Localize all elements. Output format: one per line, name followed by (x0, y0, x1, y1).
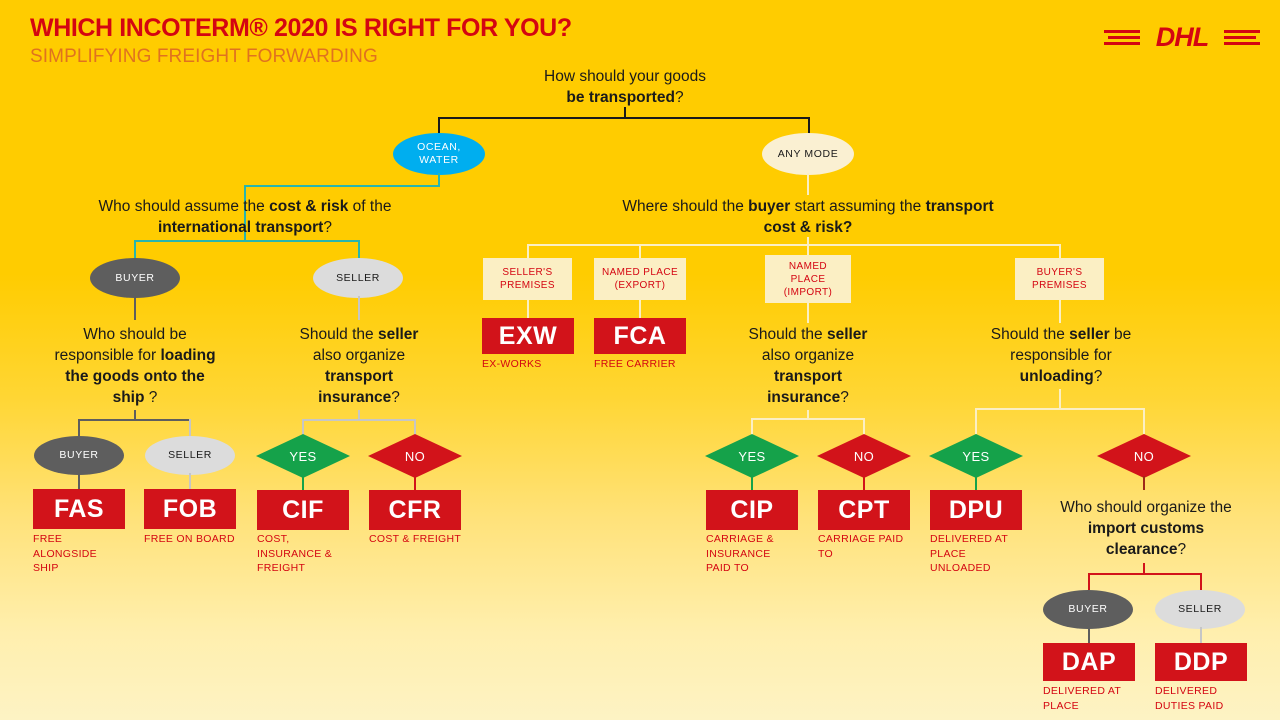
connector-exw (527, 300, 529, 318)
ocean-q-d: international transport (158, 219, 323, 236)
seller-insurance-question: Should the seller also organize transpor… (263, 324, 455, 408)
place3-l1: NAMED (789, 261, 827, 272)
place1-l1: SELLER'S (502, 267, 552, 278)
ocean-label-line1: OCEAN, (417, 141, 461, 153)
term-cip-code: CIP (730, 496, 773, 525)
customs-option-seller[interactable]: SELLER (1155, 590, 1245, 629)
connector-si-left (302, 419, 304, 436)
term-dap[interactable]: DAP (1043, 643, 1135, 681)
import-insurance-question: Should the seller also organize transpor… (712, 324, 904, 408)
connector-fob (189, 473, 191, 489)
connector-dpu (975, 476, 977, 490)
connector-unload-stem (1059, 300, 1061, 323)
connector-ddp (1200, 627, 1202, 643)
un-q5: unloading (1020, 368, 1094, 385)
term-cpt-code: CPT (838, 496, 890, 525)
place2-l1: NAMED PLACE (602, 267, 678, 278)
am-q2: buyer (748, 198, 790, 215)
connector-si-bar (302, 419, 415, 421)
connector-seller-sub-stem (358, 296, 360, 320)
un-q3: be (1110, 326, 1132, 343)
place1-label: SELLER'S PREMISES (500, 266, 555, 292)
un-q4: responsible for (1010, 347, 1112, 364)
connector-un-right (1143, 408, 1145, 434)
connector-ii-right (863, 418, 865, 435)
connector-bl-left (78, 419, 80, 436)
bl-q5: ship (113, 389, 145, 406)
import-insurance-option-yes[interactable]: YES (705, 434, 799, 478)
term-fca[interactable]: FCA (594, 318, 686, 354)
term-fas-caption: FREE ALONGSIDE SHIP (33, 532, 133, 576)
connector-imp-ins-stem (807, 303, 809, 323)
term-cif-code: CIF (282, 496, 324, 525)
term-fob-code: FOB (163, 495, 217, 524)
term-dpu-caption: DELIVERED AT PLACE UNLOADED (930, 532, 1035, 576)
ocean-option-buyer[interactable]: BUYER (90, 258, 180, 298)
root-question-emphasis: be transported (566, 89, 675, 106)
connector-root-bar (438, 117, 810, 119)
connector-am-bar (527, 244, 1060, 246)
place3-label: NAMED PLACE (IMPORT) (784, 260, 833, 299)
ocean-yes-label: YES (289, 449, 316, 464)
term-fas-code: FAS (54, 495, 104, 524)
ii-no-label: NO (854, 449, 874, 464)
si-q6: ? (391, 389, 400, 406)
ocean-seller-label: SELLER (336, 272, 380, 285)
term-dpu-code: DPU (949, 496, 1003, 525)
connector-ocean-jog (244, 185, 440, 187)
ocean-label: OCEAN, WATER (417, 141, 461, 167)
term-ddp-caption: DELIVERED DUTIES PAID (1155, 684, 1260, 713)
svg-text:DHL: DHL (1156, 22, 1209, 52)
term-fob[interactable]: FOB (144, 489, 236, 529)
loading-buyer-label: BUYER (59, 449, 98, 462)
term-cip[interactable]: CIP (706, 490, 798, 530)
place3-l3: (IMPORT) (784, 287, 833, 298)
root-question-tail: ? (675, 89, 684, 106)
connector-am-p4 (1059, 244, 1061, 258)
connector-un-stem (1059, 389, 1061, 409)
import-customs-question: Who should organize the import customs c… (1035, 497, 1257, 560)
ocean-option-seller[interactable]: SELLER (313, 258, 403, 298)
root-question-line1: How should your goods (544, 68, 706, 85)
connector-ic-right (1200, 573, 1202, 590)
un-q6: ? (1094, 368, 1103, 385)
connector-ocean-split-bar (134, 240, 359, 242)
ocean-q-c: of the (348, 198, 391, 215)
connector-dap (1088, 627, 1090, 643)
connector-ocean-split-right (358, 240, 360, 258)
ocean-no-label: NO (405, 449, 425, 464)
term-dpu[interactable]: DPU (930, 490, 1022, 530)
term-fob-caption: FREE ON BOARD (144, 532, 259, 547)
place4-l2: PREMISES (1032, 280, 1087, 291)
ii-q4: transport (774, 368, 842, 385)
ocean-q-b: cost & risk (269, 198, 348, 215)
ii-q2: seller (827, 326, 868, 343)
connector-ii-bar (751, 418, 864, 420)
bl-q6: ? (144, 389, 157, 406)
ocean-buyer-label: BUYER (115, 272, 154, 285)
place-sellers-premises[interactable]: SELLER'S PREMISES (483, 258, 572, 300)
connector-cpt (863, 476, 865, 490)
unloading-option-yes[interactable]: YES (929, 434, 1023, 478)
connector-si-right (414, 419, 416, 436)
place2-label: NAMED PLACE (EXPORT) (602, 266, 678, 292)
ii-q1: Should the (749, 326, 827, 343)
si-q1: Should the (300, 326, 378, 343)
ocean-q-e: ? (323, 219, 332, 236)
connector-un-left (975, 408, 977, 434)
ii-q3: also organize (762, 347, 854, 364)
am-q1: Where should the (622, 198, 748, 215)
si-q4: transport (325, 368, 393, 385)
si-q3: also organize (313, 347, 405, 364)
unloading-question: Should the seller be responsible for unl… (963, 324, 1159, 387)
bl-q3: loading (160, 347, 215, 364)
un-q2: seller (1069, 326, 1110, 343)
place-named-place-export[interactable]: NAMED PLACE (EXPORT) (594, 258, 686, 300)
page-title: WHICH INCOTERM® 2020 IS RIGHT FOR YOU? (30, 14, 572, 43)
connector-ocean-split-left (134, 240, 136, 258)
connector-am-p3 (807, 244, 809, 255)
term-fca-caption: FREE CARRIER (594, 357, 709, 372)
page-subtitle: SIMPLIFYING FREIGHT FORWARDING (30, 46, 378, 68)
term-cpt[interactable]: CPT (818, 490, 910, 530)
insurance-option-no-ocean[interactable]: NO (368, 434, 462, 478)
term-exw-caption: EX-WORKS (482, 357, 592, 372)
root-question: How should your goods be transported? (500, 66, 750, 108)
ic-q2: import customs (1088, 520, 1204, 537)
un-yes-label: YES (962, 449, 989, 464)
connector-un-bar (975, 408, 1144, 410)
term-cfr-code: CFR (389, 496, 442, 525)
connector-anymode-stem (807, 173, 809, 195)
ocean-label-line2: WATER (419, 154, 459, 166)
term-cpt-caption: CARRIAGE PAID TO (818, 532, 923, 561)
connector-ii-left (751, 418, 753, 435)
mode-option-any-mode[interactable]: ANY MODE (762, 133, 854, 175)
term-fas[interactable]: FAS (33, 489, 125, 529)
un-no-label: NO (1134, 449, 1154, 464)
loading-seller-label: SELLER (168, 449, 212, 462)
customs-option-buyer[interactable]: BUYER (1043, 590, 1133, 629)
si-q5: insurance (318, 389, 391, 406)
bl-q4: the goods onto the (65, 368, 204, 385)
bl-q2: responsible for (54, 347, 160, 364)
import-insurance-option-no[interactable]: NO (817, 434, 911, 478)
connector-am-p2 (639, 244, 641, 258)
connector-cif (302, 476, 304, 490)
si-q2: seller (378, 326, 419, 343)
ii-q6: ? (840, 389, 849, 406)
connector-bl-bar (78, 419, 191, 421)
term-dap-caption: DELIVERED AT PLACE (1043, 684, 1148, 713)
loading-option-seller[interactable]: SELLER (145, 436, 235, 475)
loading-option-buyer[interactable]: BUYER (34, 436, 124, 475)
term-cif[interactable]: CIF (257, 490, 349, 530)
connector-cip (751, 476, 753, 490)
term-cip-caption: CARRIAGE & INSURANCE PAID TO (706, 532, 811, 576)
am-q3: start assuming the (790, 198, 925, 215)
buyer-loading-question: Who should be responsible for loading th… (24, 324, 246, 408)
term-dap-code: DAP (1062, 648, 1116, 677)
mode-option-ocean-water[interactable]: OCEAN, WATER (393, 133, 485, 175)
infographic-canvas: WHICH INCOTERM® 2020 IS RIGHT FOR YOU? S… (0, 0, 1280, 720)
ic-q3: clearance (1106, 541, 1178, 558)
connector-cfr (414, 476, 416, 490)
term-cif-caption: COST, INSURANCE & FREIGHT (257, 532, 362, 576)
dhl-logo-icon: DHL (1102, 16, 1262, 58)
term-cfr-caption: COST & FREIGHT (369, 532, 489, 547)
term-cfr[interactable]: CFR (369, 490, 461, 530)
ocean-q-a: Who should assume the (99, 198, 270, 215)
anymode-question: Where should the buyer start assuming th… (562, 196, 1054, 238)
place1-l2: PREMISES (500, 280, 555, 291)
any-mode-label: ANY MODE (778, 148, 839, 161)
un-q1: Should the (991, 326, 1069, 343)
place4-l1: BUYER'S (1037, 267, 1083, 278)
connector-fca (639, 300, 641, 318)
ic-q1: Who should organize the (1060, 499, 1231, 516)
am-q5: cost & risk? (764, 219, 853, 236)
term-fca-code: FCA (614, 322, 667, 351)
ic-q4: ? (1177, 541, 1186, 558)
bl-q1: Who should be (83, 326, 186, 343)
connector-am-p1 (527, 244, 529, 258)
connector-ic-left (1088, 573, 1090, 590)
connector-buyer-sub-stem (134, 296, 136, 320)
place-named-place-import[interactable]: NAMED PLACE (IMPORT) (765, 255, 851, 303)
term-ddp[interactable]: DDP (1155, 643, 1247, 681)
place-buyers-premises[interactable]: BUYER'S PREMISES (1015, 258, 1104, 300)
unloading-option-no[interactable]: NO (1097, 434, 1191, 478)
insurance-option-yes-ocean[interactable]: YES (256, 434, 350, 478)
am-q4: transport (926, 198, 994, 215)
place2-l2: (EXPORT) (615, 280, 666, 291)
term-ddp-code: DDP (1174, 648, 1228, 677)
connector-ic-bar (1088, 573, 1201, 575)
ii-yes-label: YES (738, 449, 765, 464)
connector-bl-right (189, 419, 191, 436)
customs-seller-label: SELLER (1178, 603, 1222, 616)
place3-l2: PLACE (791, 274, 826, 285)
term-exw[interactable]: EXW (482, 318, 574, 354)
term-exw-code: EXW (499, 322, 557, 351)
connector-no-to-customs (1143, 476, 1145, 490)
ii-q5: insurance (767, 389, 840, 406)
place4-label: BUYER'S PREMISES (1032, 266, 1087, 292)
customs-buyer-label: BUYER (1068, 603, 1107, 616)
ocean-question: Who should assume the cost & risk of the… (55, 196, 435, 238)
connector-fas (78, 473, 80, 489)
